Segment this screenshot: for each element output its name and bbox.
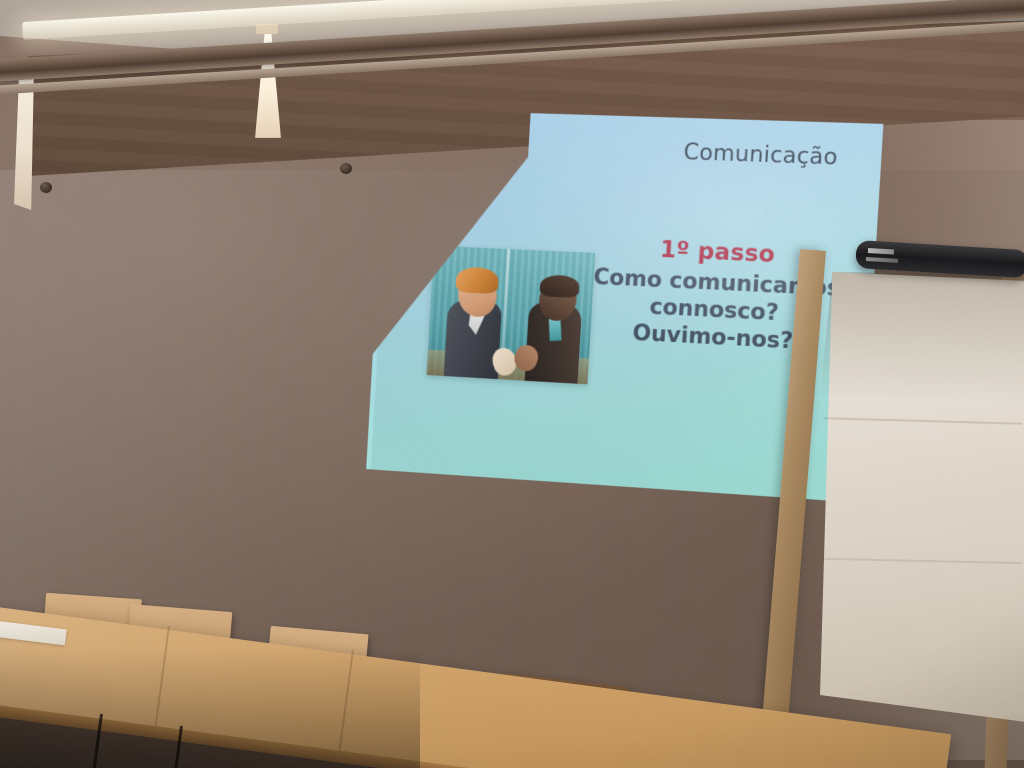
- flipchart-paper-shadow: [820, 272, 1024, 402]
- room-scene: Comunicação 1º passo Como comunicamos co…: [0, 0, 1024, 768]
